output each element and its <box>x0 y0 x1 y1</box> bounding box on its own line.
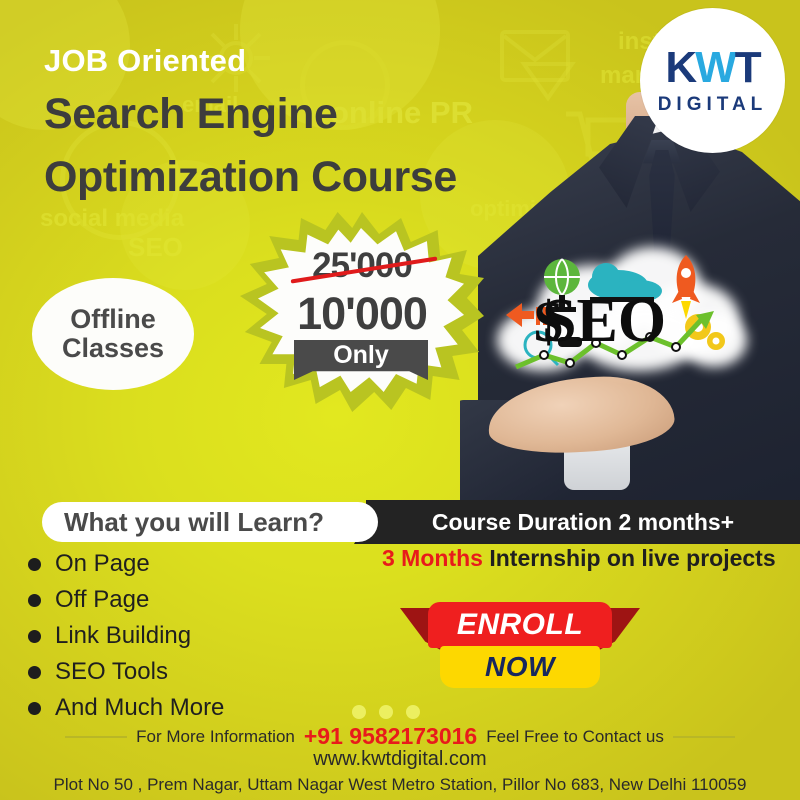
learn-title-text: What you will Learn? <box>64 507 324 538</box>
list-item-label: Link Building <box>55 622 191 650</box>
list-item: SEO Tools <box>28 654 358 690</box>
headline-line-1: Search Engine <box>44 88 514 140</box>
list-item-label: Off Page <box>55 586 149 614</box>
watermark-social-media: social media <box>40 206 184 231</box>
enroll-bottom-band[interactable]: NOW <box>440 646 600 688</box>
list-item: On Page <box>28 546 358 582</box>
internship-line: 3 Months Internship on live projects <box>382 545 794 572</box>
course-duration-text: Course Duration 2 months+ <box>366 500 800 544</box>
list-item-label: On Page <box>55 550 150 578</box>
rule-left <box>65 736 127 738</box>
list-item-label: SEO Tools <box>55 658 168 686</box>
now-label: NOW <box>485 651 555 683</box>
bullet-dot-icon <box>28 702 41 715</box>
headline-block: JOB Oriented Search Engine Optimization … <box>44 44 514 203</box>
bullet-dot-icon <box>28 594 41 607</box>
enroll-top-band[interactable]: ENROLL <box>428 602 612 648</box>
logo-subtext: DIGITAL <box>658 94 768 116</box>
learn-list: On Page Off Page Link Building SEO Tools… <box>28 546 358 726</box>
deco-dot-icon <box>406 705 420 719</box>
phone-number[interactable]: +91 9582173016 <box>304 723 477 750</box>
seo-graphic: SEO $ <box>500 245 740 375</box>
seo-course-poster: instant marketing online PR email social… <box>0 0 800 800</box>
offline-line-1: Offline <box>70 304 156 334</box>
watermark-seo: SEO <box>128 232 183 263</box>
brand-logo[interactable]: KWT DIGITAL <box>640 8 785 153</box>
list-item: Off Page <box>28 582 358 618</box>
contact-row: For More Information +91 9582173016 Feel… <box>0 723 800 750</box>
offline-classes-badge: Offline Classes <box>32 278 194 390</box>
logo-text-kwt: KWT <box>665 43 759 92</box>
bullet-dot-icon <box>28 558 41 571</box>
list-item-label: And Much More <box>55 694 224 722</box>
new-price: 10'000 <box>240 288 484 340</box>
only-label: Only <box>333 340 389 370</box>
logo-wordmark: KWT <box>665 46 759 90</box>
headline-line-2: Optimization Course <box>44 151 514 203</box>
bullet-dot-icon <box>28 666 41 679</box>
old-price: 25'000 <box>240 246 484 286</box>
offline-line-2: Classes <box>62 333 164 363</box>
eyebrow-text: JOB Oriented <box>44 44 514 78</box>
enroll-button[interactable]: ENROLL NOW <box>400 598 640 690</box>
address-text: Plot No 50 , Prem Nagar, Uttam Nagar Wes… <box>0 775 800 795</box>
list-item: And Much More <box>28 690 358 726</box>
svg-text:$: $ <box>534 289 563 354</box>
contact-post-label: Feel Free to Contact us <box>486 727 664 747</box>
deco-dot-icon <box>379 705 393 719</box>
decorative-dots <box>352 705 420 719</box>
learn-title-pill: What you will Learn? <box>42 502 378 542</box>
rocket-icon <box>672 255 700 319</box>
enroll-label: ENROLL <box>457 608 583 642</box>
contact-pre-label: For More Information <box>136 727 295 747</box>
rule-right <box>673 736 735 738</box>
website-url[interactable]: www.kwtdigital.com <box>0 748 800 771</box>
internship-highlight: 3 Months <box>382 545 483 571</box>
internship-rest: Internship on live projects <box>483 545 776 571</box>
deco-dot-icon <box>352 705 366 719</box>
list-item: Link Building <box>28 618 358 654</box>
price-starburst: 25'000 10'000 Only <box>240 212 484 412</box>
bullet-dot-icon <box>28 630 41 643</box>
offline-badge-text: Offline Classes <box>62 305 164 363</box>
